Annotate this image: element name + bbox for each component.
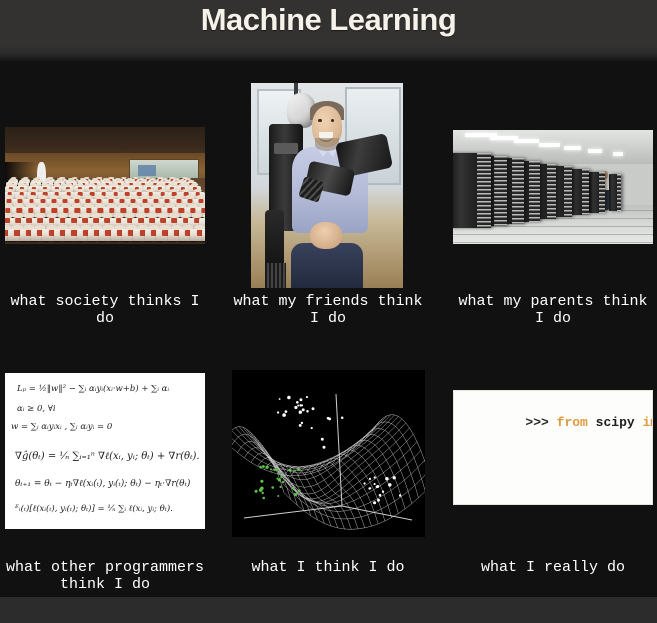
- repl-prompt: >>>: [525, 415, 556, 430]
- data-point: [261, 492, 263, 494]
- data-point: [294, 493, 297, 496]
- keyword-import: import: [642, 415, 653, 430]
- data-point: [292, 487, 295, 490]
- data-point: [399, 494, 401, 496]
- data-point: [311, 427, 313, 429]
- data-point: [255, 490, 258, 493]
- server-rack: [589, 172, 605, 213]
- data-point: [374, 476, 376, 478]
- data-point: [271, 486, 274, 489]
- footer-bar: [0, 597, 657, 623]
- data-point: [276, 468, 279, 471]
- data-point: [270, 468, 272, 470]
- data-point: [279, 486, 281, 488]
- page-title: Machine Learning: [0, 2, 657, 38]
- data-point: [369, 478, 371, 480]
- floor-tile-line: [453, 242, 653, 243]
- python-repl-screenshot: >>> from scipy import SVM: [453, 390, 653, 505]
- lecture-hall-photo: [5, 127, 205, 244]
- data-point: [289, 469, 292, 472]
- data-point: [273, 469, 276, 472]
- data-point: [373, 501, 376, 504]
- data-point: [306, 396, 308, 398]
- data-point: [299, 411, 302, 414]
- data-point: [299, 398, 302, 401]
- data-point: [376, 485, 379, 488]
- formula-line-2: αᵢ ≥ 0, ∀i: [17, 404, 56, 414]
- data-point: [282, 481, 284, 483]
- data-point: [287, 396, 291, 400]
- data-point: [298, 489, 301, 492]
- header-gradient: [0, 47, 657, 61]
- ceiling-light: [613, 152, 623, 156]
- data-point: [293, 470, 295, 472]
- data-point: [280, 476, 283, 479]
- data-point: [382, 491, 384, 493]
- data-point: [379, 494, 382, 497]
- data-point: [341, 416, 344, 419]
- data-point: [276, 478, 278, 480]
- formula-line-3: w = ∑ᵢ αᵢyᵢxᵢ , ∑ᵢ αᵢyᵢ = 0: [11, 422, 112, 432]
- ceiling-light: [514, 139, 539, 143]
- meme-image: Machine Learning what society thinks I d…: [0, 0, 657, 623]
- formula-line-6: ᴱᵢ(ₜ)[ℓ(xᵢ(ₜ), yᵢ(ₜ); θₜ)] = ¹⁄ₙ ∑ᵢ ℓ(xᵢ…: [15, 503, 173, 514]
- module-name: scipy: [588, 415, 643, 430]
- caption-other-programmers: what other programmers think I do: [2, 559, 208, 593]
- data-point: [297, 468, 300, 471]
- data-point: [369, 487, 371, 489]
- ceiling-light: [539, 143, 560, 147]
- data-point: [306, 410, 309, 413]
- data-point: [265, 466, 268, 469]
- data-point: [296, 401, 299, 404]
- data-point: [301, 422, 303, 424]
- data-point: [374, 483, 376, 485]
- data-point: [323, 446, 326, 449]
- data-point: [259, 488, 263, 492]
- data-point: [377, 499, 380, 502]
- data-point: [277, 411, 279, 413]
- data-point: [278, 473, 280, 475]
- caption-i-really-do: what I really do: [452, 559, 654, 576]
- ceiling-light: [564, 146, 581, 150]
- svm-surface-svg: [232, 370, 425, 537]
- data-point: [282, 413, 286, 417]
- man-with-robot-photo: [251, 83, 403, 288]
- data-point: [260, 480, 263, 483]
- svm-3d-surface-plot: [232, 370, 425, 537]
- keyword-from: from: [557, 415, 588, 430]
- data-point: [385, 477, 388, 480]
- data-point: [262, 497, 265, 500]
- data-point: [388, 483, 392, 487]
- data-point: [312, 407, 315, 410]
- caption-society: what society thinks I do: [2, 293, 208, 327]
- server-rack: [609, 174, 621, 210]
- data-point: [393, 476, 396, 479]
- data-point: [262, 465, 265, 468]
- math-formulas-image: Lₚ = ½‖w‖² − ∑ᵢ αᵢyᵢ(xᵢ·w+b) + ∑ᵢ αᵢ αᵢ …: [5, 373, 205, 529]
- formula-line-5: θₜ₊₁ = θₜ − ηₜ∇ℓ(xᵢ(ₜ), yᵢ(ₜ); θₜ) − ηₜ·…: [15, 478, 190, 489]
- data-point: [297, 405, 299, 407]
- data-point: [259, 466, 262, 469]
- data-point: [363, 482, 365, 484]
- data-point: [285, 410, 288, 413]
- caption-parents: what my parents think I do: [452, 293, 654, 327]
- code-line: >>> from scipy import SVM: [463, 400, 653, 445]
- data-point: [279, 398, 281, 400]
- ceiling-light: [588, 149, 602, 153]
- data-point: [328, 417, 331, 420]
- data-point: [302, 408, 305, 411]
- data-point: [294, 406, 297, 409]
- data-point: [321, 438, 324, 441]
- server-rack: [453, 153, 491, 228]
- data-point: [299, 424, 302, 427]
- data-point: [301, 404, 303, 406]
- seat: [202, 229, 205, 241]
- data-point: [277, 495, 279, 497]
- caption-i-think: what I think I do: [228, 559, 428, 576]
- formula-line-1: Lₚ = ½‖w‖² − ∑ᵢ αᵢyᵢ(xᵢ·w+b) + ∑ᵢ αᵢ: [17, 384, 169, 394]
- caption-friends: what my friends think I do: [228, 293, 428, 327]
- formula-line-4: ∇ĝ(θₜ) = ¹⁄ₙ ∑ᵢ₌₁ⁿ ∇ℓ(xᵢ, yᵢ; θₜ) + ∇r(θ…: [15, 451, 200, 462]
- server-room-photo: [453, 130, 653, 244]
- floor-tile-line: [453, 234, 653, 235]
